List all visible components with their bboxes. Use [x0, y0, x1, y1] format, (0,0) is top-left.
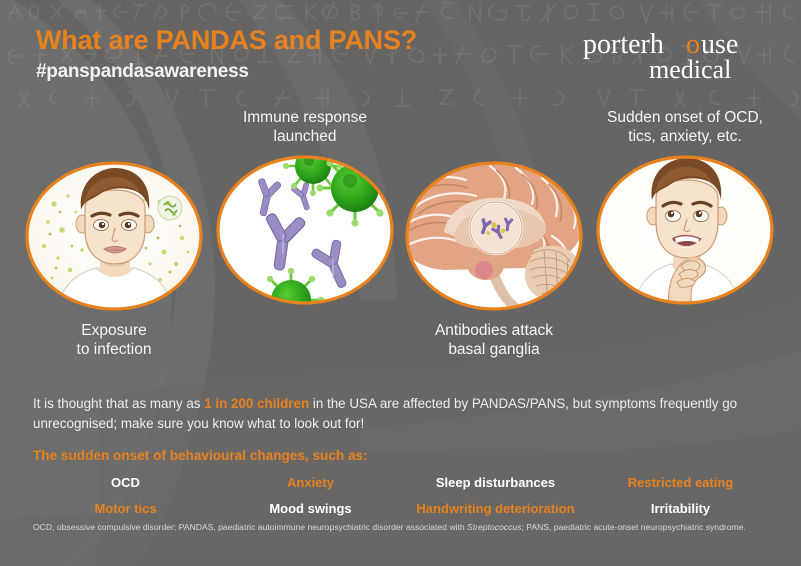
porterhouse-medical-logo: porterh o use medical	[583, 26, 773, 82]
step-caption-sudden-onset: Sudden onset of OCD, tics, anxiety, etc.	[592, 108, 778, 146]
exposure-illustration-wrap	[24, 160, 205, 312]
step-caption-immune-response: Immune response launched	[212, 108, 398, 146]
symptom-item: Anxiety	[218, 472, 403, 493]
boy-face-with-germs-icon	[24, 160, 205, 312]
symptom-item: Motor tics	[33, 498, 218, 519]
symptom-item: Restricted eating	[588, 472, 773, 493]
hashtag-text: #panspandasawareness	[36, 61, 249, 83]
brain-cross-section-icon	[404, 160, 585, 312]
footnote-part2: ; PANS, paediatric acute-onset neuropsyc…	[521, 522, 745, 532]
immune-illustration-wrap	[215, 154, 396, 306]
boy-biting-nails-icon	[595, 154, 776, 306]
step-caption-exposure: Exposure to infection	[21, 321, 207, 359]
page-title: What are PANDAS and PANS?	[36, 25, 417, 56]
step-panel-exposure: Exposure to infection	[21, 160, 207, 359]
symptom-item: Irritability	[588, 498, 773, 519]
symptom-item: Sleep disturbances	[403, 472, 588, 493]
symptom-item: Handwriting deterioration	[403, 498, 588, 519]
footnote-abbreviations: OCD, obsessive compulsive disorder; PAND…	[33, 521, 773, 534]
step-panel-immune-response: Immune response launched	[212, 108, 398, 306]
symptoms-subheading: The sudden onset of behavioural changes,…	[33, 448, 368, 463]
sudden-onset-illustration-wrap	[595, 154, 776, 306]
step-panel-antibodies-attack: Antibodies attack basal ganglia	[401, 160, 587, 359]
paragraph-part1: It is thought that as many as	[33, 396, 204, 411]
body-paragraph: It is thought that as many as 1 in 200 c…	[33, 394, 789, 433]
footnote-part1: OCD, obsessive compulsive disorder; PAND…	[33, 522, 467, 532]
step-panel-sudden-onset: Sudden onset of OCD, tics, anxiety, etc.	[592, 108, 778, 306]
symptom-item: Mood swings	[218, 498, 403, 519]
footnote-italic-term: Streptococcus	[467, 522, 521, 532]
paragraph-highlight: 1 in 200 children	[204, 396, 309, 411]
antibodies-and-germs-icon	[215, 154, 396, 306]
step-caption-antibodies-attack: Antibodies attack basal ganglia	[401, 321, 587, 359]
symptoms-grid: OCD Anxiety Sleep disturbances Restricte…	[33, 472, 773, 519]
brain-illustration-wrap	[404, 160, 585, 312]
logo-line2: medical	[649, 55, 731, 82]
symptom-item: OCD	[33, 472, 218, 493]
